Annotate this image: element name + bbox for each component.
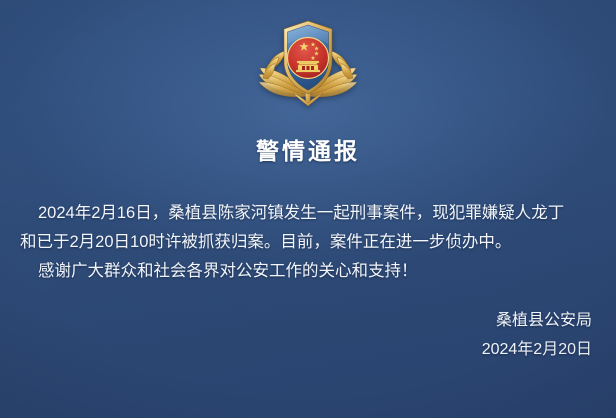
page-title: 警情通报 [0,136,616,166]
signature-date: 2024年2月20日 [482,335,592,364]
notice-body-line: 感谢广大群众和社会各界对公安工作的关心和支持！ [20,257,596,286]
signature-issuer: 桑植县公安局 [482,306,592,335]
emblem-container [0,16,616,108]
police-notice-poster: 警情通报 2024年2月16日，桑植县陈家河镇发生一起刑事案件，现犯罪嫌疑人龙丁… [0,0,616,418]
china-police-emblem-icon [256,18,360,106]
signature-block: 桑植县公安局 2024年2月20日 [482,306,592,364]
notice-body: 2024年2月16日，桑植县陈家河镇发生一起刑事案件，现犯罪嫌疑人龙丁 和已于2… [20,199,596,286]
notice-body-line: 2024年2月16日，桑植县陈家河镇发生一起刑事案件，现犯罪嫌疑人龙丁 [20,199,596,228]
notice-body-line: 和已于2月20日10时许被抓获归案。目前，案件正在进一步侦办中。 [20,228,596,257]
